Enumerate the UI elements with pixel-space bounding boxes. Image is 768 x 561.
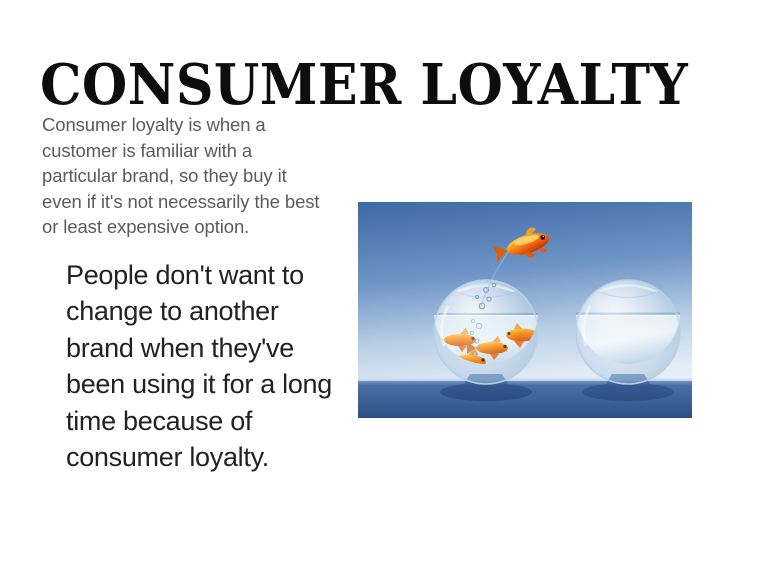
body-text-column: Consumer loyalty is when a customer is f… (42, 112, 342, 476)
goldfish-bowls-illustration (358, 202, 692, 418)
emphasis-paragraph: People don't want to change to another b… (42, 240, 342, 476)
slide-canvas: CONSUMER LOYALTY Consumer loyalty is whe… (0, 0, 768, 561)
goldfish-bowls-photo (358, 202, 692, 418)
intro-paragraph: Consumer loyalty is when a customer is f… (42, 112, 330, 240)
page-title: CONSUMER LOYALTY (40, 54, 688, 116)
